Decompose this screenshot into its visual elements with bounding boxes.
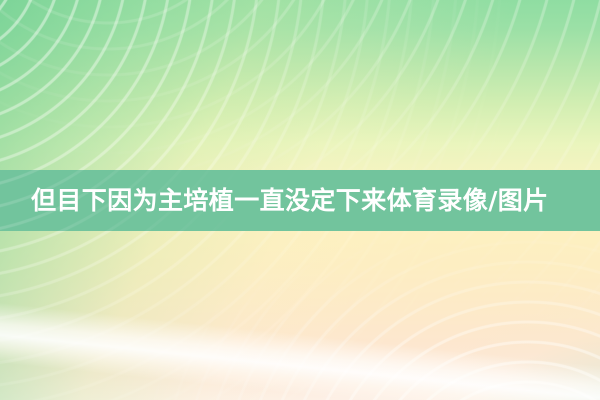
caption-text: 但目下因为主培植一直没定下来体育录像/图片: [31, 188, 549, 213]
caption-band: 但目下因为主培植一直没定下来体育录像/图片: [0, 170, 600, 231]
decorative-banner: 但目下因为主培植一直没定下来体育录像/图片: [0, 0, 600, 400]
